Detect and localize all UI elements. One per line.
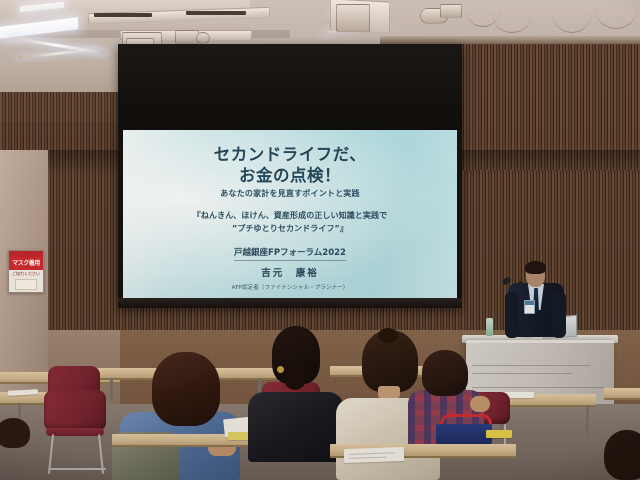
duct-rail-2: [186, 11, 246, 15]
speaker-name-badge: [524, 300, 535, 314]
slide-presenter-name: 吉元 康裕: [261, 267, 319, 280]
attendee-cream-top-neck: [378, 386, 400, 398]
chair-seat-front-left[interactable]: [46, 428, 104, 436]
slide-title-line1: セカンドライフだ、: [214, 144, 367, 165]
attendee-blue-sweater-hair: [152, 352, 220, 426]
slide-credential: AFP認定者（ファイナンシャル・プランナー）: [232, 284, 349, 293]
table-leg-back-a: [110, 378, 113, 400]
table-leg-right-b: [586, 405, 589, 439]
hair-tie-gold: [277, 366, 284, 373]
podium-groove-2: [472, 373, 572, 374]
screen-valance: [118, 44, 462, 130]
tote-bag-blue: [436, 424, 492, 444]
ceiling-projector-right: [336, 4, 370, 32]
handout-paper-front: [344, 447, 404, 463]
speaker-right-arm: [552, 292, 566, 338]
sign-sub-text: ご協力ください: [9, 270, 43, 278]
paper-line-2: [349, 457, 387, 459]
slide-event-name: 戸越銀座FPフォーラム2022: [234, 247, 346, 261]
attendee-plaid-shirt-hair: [422, 350, 468, 396]
attendee-plaid-hand: [470, 396, 490, 412]
speaker-left-arm: [505, 292, 519, 338]
presentation-slide: セカンドライフだ、 お金の点検！ あなたの家計を見直すポイントと実践 『ねんきん…: [123, 130, 457, 298]
slide-quote-line2: ”プチゆとりセカンドライフ”』: [232, 223, 348, 235]
table-far-right: [604, 388, 640, 400]
screen-canvas: セカンドライフだ、 お金の点検！ あなたの家計を見直すポイントと実践 『ねんきん…: [123, 130, 457, 298]
yellow-folder: [486, 430, 512, 438]
water-bottle-left: [486, 318, 493, 336]
slide-title-line2: お金の点検！: [239, 165, 341, 186]
attendee-ponytail-bun: [284, 368, 306, 390]
wall-cap-right: [380, 36, 640, 44]
sign-illustration-box: [15, 279, 37, 290]
attendee-hair-far-left: [0, 418, 30, 448]
ceiling-mount-right: [440, 4, 462, 18]
duct-rail: [94, 13, 152, 17]
screen-bottom-bar: [118, 298, 462, 308]
attendee-cream-top-bun: [378, 328, 398, 343]
ceiling-sprinkler: [196, 32, 210, 44]
speaker-hair: [525, 261, 546, 274]
attendee-hair-far-right: [604, 430, 640, 480]
projection-screen: セカンドライフだ、 お金の点検！ あなたの家計を見直すポイントと実践 『ねんきん…: [118, 44, 462, 308]
mask-notice-sign: マスク着用 ご協力ください: [8, 250, 44, 293]
sign-band-text: マスク着用: [9, 257, 43, 270]
chair-base-bar: [48, 468, 106, 470]
podium-groove-3: [472, 387, 604, 388]
slide-quote-line1: 『ねんきん、ほけん、資産形成の正しい知識と実践で: [193, 210, 387, 222]
slide-subtitle: あなたの家計を見直すポイントと実践: [220, 188, 359, 200]
seminar-room-photo: マスク着用 ご協力ください セカンドライフだ、 お金の点検！ あなたの家計を見直…: [0, 0, 640, 480]
podium-groove-1: [472, 365, 590, 366]
paper-line-1: [349, 452, 395, 455]
chair-front-left[interactable]: [44, 390, 106, 430]
